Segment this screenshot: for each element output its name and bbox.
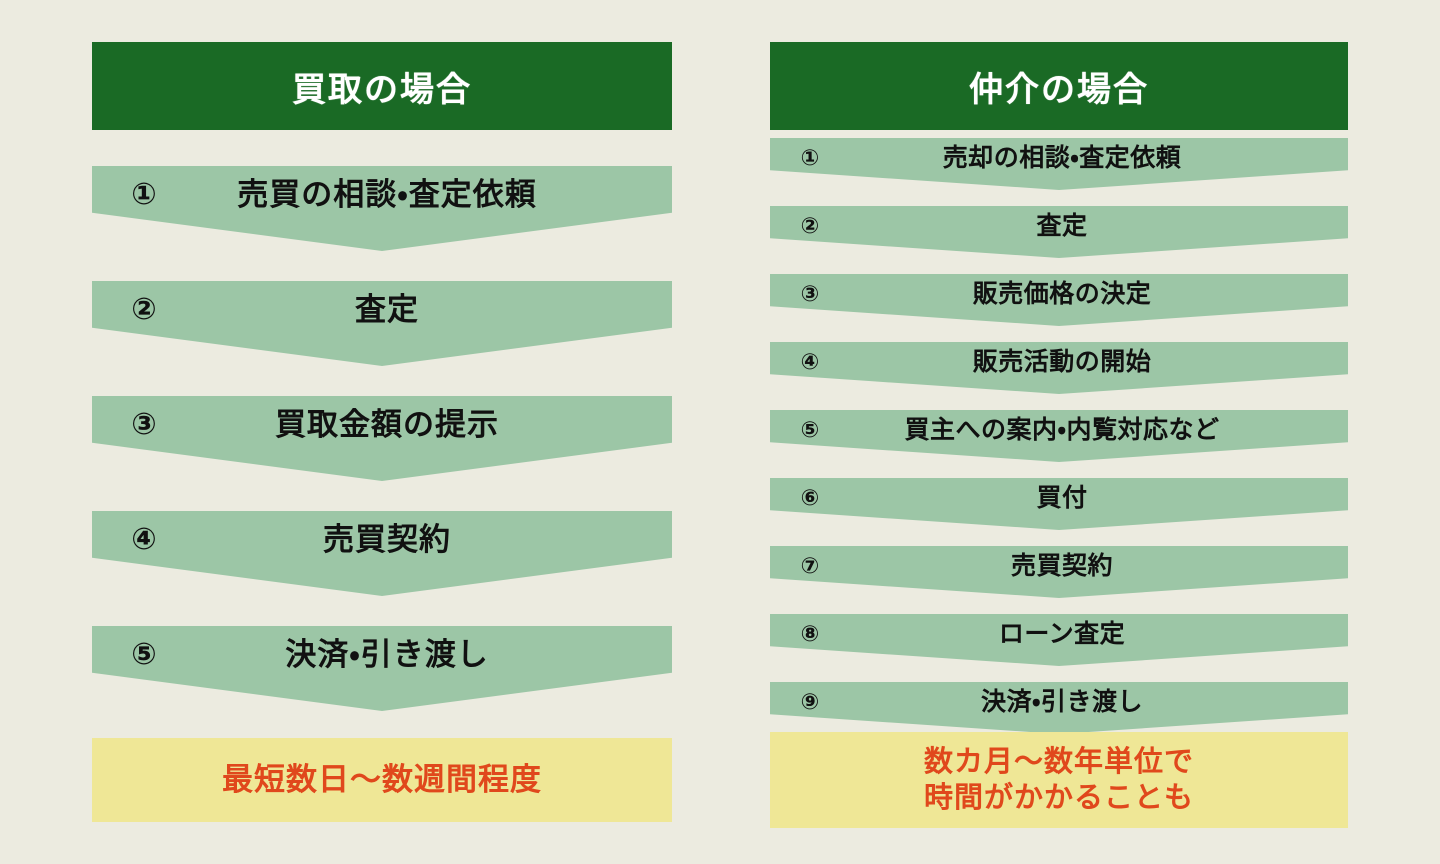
step-label: 売買契約 (92, 524, 672, 555)
step-item: ② 査定 (770, 206, 1348, 274)
step-item: ⑥ 買付 (770, 478, 1348, 546)
step-content: ⑥ 買付 (770, 478, 1348, 518)
step-item: ③ 販売価格の決定 (770, 274, 1348, 342)
step-label: 買取金額の提示 (92, 409, 672, 440)
note-line: 時間がかかることも (924, 780, 1194, 816)
step-item: ② 査定 (92, 281, 672, 396)
step-item: ① 売買の相談・査定依頼 (92, 166, 672, 281)
column-header-chukai: 仲介の場合 (770, 42, 1348, 130)
step-item: ④ 売買契約 (92, 511, 672, 626)
step-item: ③ 買取金額の提示 (92, 396, 672, 511)
step-content: ⑧ ローン査定 (770, 614, 1348, 654)
step-label: 決済・引き渡し (770, 690, 1348, 715)
step-content: ③ 販売価格の決定 (770, 274, 1348, 314)
step-content: ⑨ 決済・引き渡し (770, 682, 1348, 722)
infographic-stage: 買取の場合 ① 売買の相談・査定依頼 ② 査定 ③ (0, 0, 1440, 864)
step-item: ⑦ 売買契約 (770, 546, 1348, 614)
step-content: ② 査定 (770, 206, 1348, 246)
step-label: 決済・引き渡し (92, 639, 672, 670)
step-item: ⑧ ローン査定 (770, 614, 1348, 682)
step-label: 査定 (770, 214, 1348, 239)
step-content: ① 売却の相談・査定依頼 (770, 138, 1348, 178)
step-label: 売却の相談・査定依頼 (770, 146, 1348, 171)
duration-note-kaitori: 最短数日〜数週間程度 (92, 738, 672, 822)
step-label: 査定 (92, 294, 672, 325)
step-content: ① 売買の相談・査定依頼 (92, 166, 672, 222)
duration-note-chukai: 数カ月〜数年単位で 時間がかかることも (770, 732, 1348, 828)
step-content: ④ 販売活動の開始 (770, 342, 1348, 382)
step-item: ⑤ 決済・引き渡し (92, 626, 672, 741)
step-content: ⑤ 買主への案内・内覧対応など (770, 410, 1348, 450)
step-label: 買主への案内・内覧対応など (770, 418, 1348, 443)
step-label: 販売価格の決定 (770, 282, 1348, 307)
step-content: ③ 買取金額の提示 (92, 396, 672, 452)
step-label: 売買契約 (770, 554, 1348, 579)
column-kaitori: 買取の場合 ① 売買の相談・査定依頼 ② 査定 ③ (92, 0, 672, 864)
step-list-chukai: ① 売却の相談・査定依頼 ② 査定 ③ 販売価格の決定 (770, 138, 1348, 750)
step-item: ⑤ 買主への案内・内覧対応など (770, 410, 1348, 478)
step-label: 買付 (770, 486, 1348, 511)
step-label: ローン査定 (770, 622, 1348, 647)
step-label: 売買の相談・査定依頼 (92, 179, 672, 210)
step-content: ② 査定 (92, 281, 672, 337)
column-chukai: 仲介の場合 ① 売却の相談・査定依頼 ② 査定 ③ (770, 0, 1348, 864)
step-content: ⑦ 売買契約 (770, 546, 1348, 586)
step-content: ④ 売買契約 (92, 511, 672, 567)
step-list-kaitori: ① 売買の相談・査定依頼 ② 査定 ③ 買取金額の提示 (92, 166, 672, 741)
step-item: ④ 販売活動の開始 (770, 342, 1348, 410)
column-header-kaitori: 買取の場合 (92, 42, 672, 130)
note-line: 数カ月〜数年単位で (924, 744, 1194, 780)
step-item: ① 売却の相談・査定依頼 (770, 138, 1348, 206)
note-line: 最短数日〜数週間程度 (222, 761, 542, 800)
step-label: 販売活動の開始 (770, 350, 1348, 375)
step-content: ⑤ 決済・引き渡し (92, 626, 672, 682)
